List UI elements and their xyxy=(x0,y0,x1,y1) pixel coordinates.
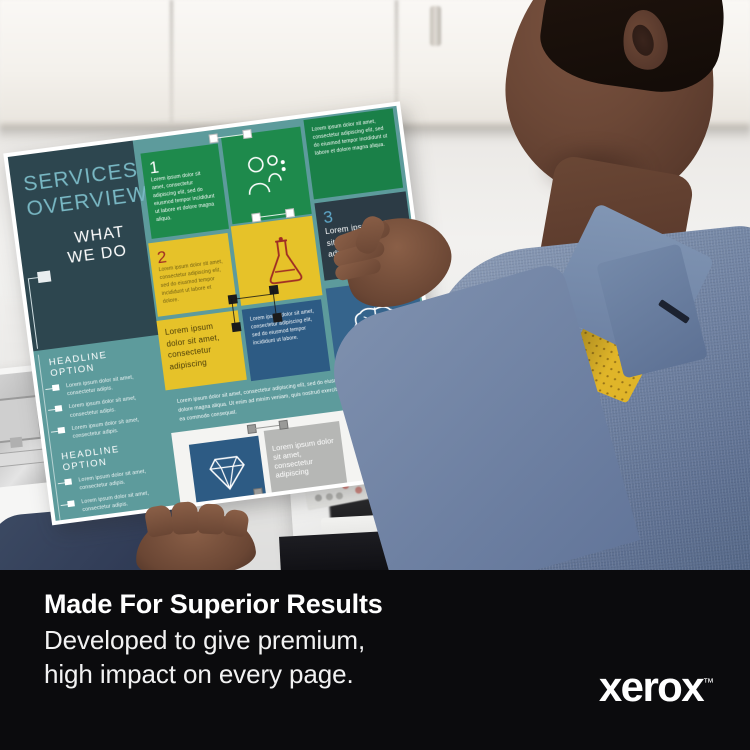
xerox-logo: xerox™ xyxy=(599,666,714,708)
tile-1: 1 Lorem ipsum dolor sit amet, consectetu… xyxy=(140,143,229,238)
xerox-advertisement: SERVICES OVERVIEW WHAT WE DO HE xyxy=(0,0,750,750)
finger xyxy=(197,503,225,534)
trademark-symbol: ™ xyxy=(703,677,714,689)
finger xyxy=(222,508,250,537)
tile-text-top: Lorem ipsum dolor sit amet, consectetur … xyxy=(303,108,403,199)
connector-node xyxy=(285,208,295,218)
tile-body: Lorem ipsum dolor sit amet, consectetur … xyxy=(311,116,391,158)
tile-quote: Lorem ipsum dolor sit amet, consectetur … xyxy=(164,318,237,373)
monitor-stand xyxy=(10,437,23,448)
cabinet-seam xyxy=(170,0,173,122)
tile-text-blue: Lorem ipsum dolor sit amet, consectetur … xyxy=(242,299,331,381)
tile-2: 2 Lorem ipsum dolor sit amet, consectetu… xyxy=(148,233,237,317)
diamond-icon xyxy=(205,452,252,495)
subheadline-line2: high impact on every page. xyxy=(44,657,514,691)
message-band: Made For Superior Results Developed to g… xyxy=(0,570,750,750)
cover-marker-icon xyxy=(37,270,51,283)
brochure-cover-panel: SERVICES OVERVIEW WHAT WE DO xyxy=(8,141,159,352)
tile-body: Lorem ipsum dolor sit amet, consectetur … xyxy=(250,307,320,347)
headline-group: HEADLINE OPTION Lorem ipsum dolor sit am… xyxy=(61,439,171,517)
headline: Made For Superior Results xyxy=(44,588,514,621)
bullet-icon xyxy=(67,500,75,507)
connector-node xyxy=(242,129,252,139)
tile-body: Lorem ipsum dolor sit amet, consectetur … xyxy=(158,258,229,306)
message-text-block: Made For Superior Results Developed to g… xyxy=(44,588,514,692)
finger xyxy=(171,501,199,535)
connector-node xyxy=(231,322,241,332)
bullet-icon xyxy=(52,384,60,391)
person xyxy=(395,0,750,572)
product-photo: SERVICES OVERVIEW WHAT WE DO HE xyxy=(0,0,750,572)
tile-people xyxy=(221,127,312,225)
bullet-icon xyxy=(57,427,65,434)
cover-connector-line xyxy=(28,279,38,349)
bullet-icon xyxy=(55,405,63,412)
logo-wordmark: xerox xyxy=(599,663,703,710)
connector-node xyxy=(279,420,289,430)
people-icon xyxy=(241,150,292,200)
tile-quote: Lorem ipsum dolor sit amet, consectetur … xyxy=(271,435,339,479)
subheadline-line1: Developed to give premium, xyxy=(44,623,514,657)
connector-node xyxy=(253,488,263,498)
bullet-icon xyxy=(64,479,72,486)
connector-node xyxy=(272,313,282,323)
bottom-quote-gray: Lorem ipsum dolor sit amet, consectetur … xyxy=(264,421,347,492)
tile-body: Lorem ipsum dolor sit amet, consectetur … xyxy=(151,168,221,224)
headline-group: HEADLINE OPTION Lorem ipsum dolor sit am… xyxy=(48,344,160,443)
flask-icon xyxy=(262,235,306,288)
